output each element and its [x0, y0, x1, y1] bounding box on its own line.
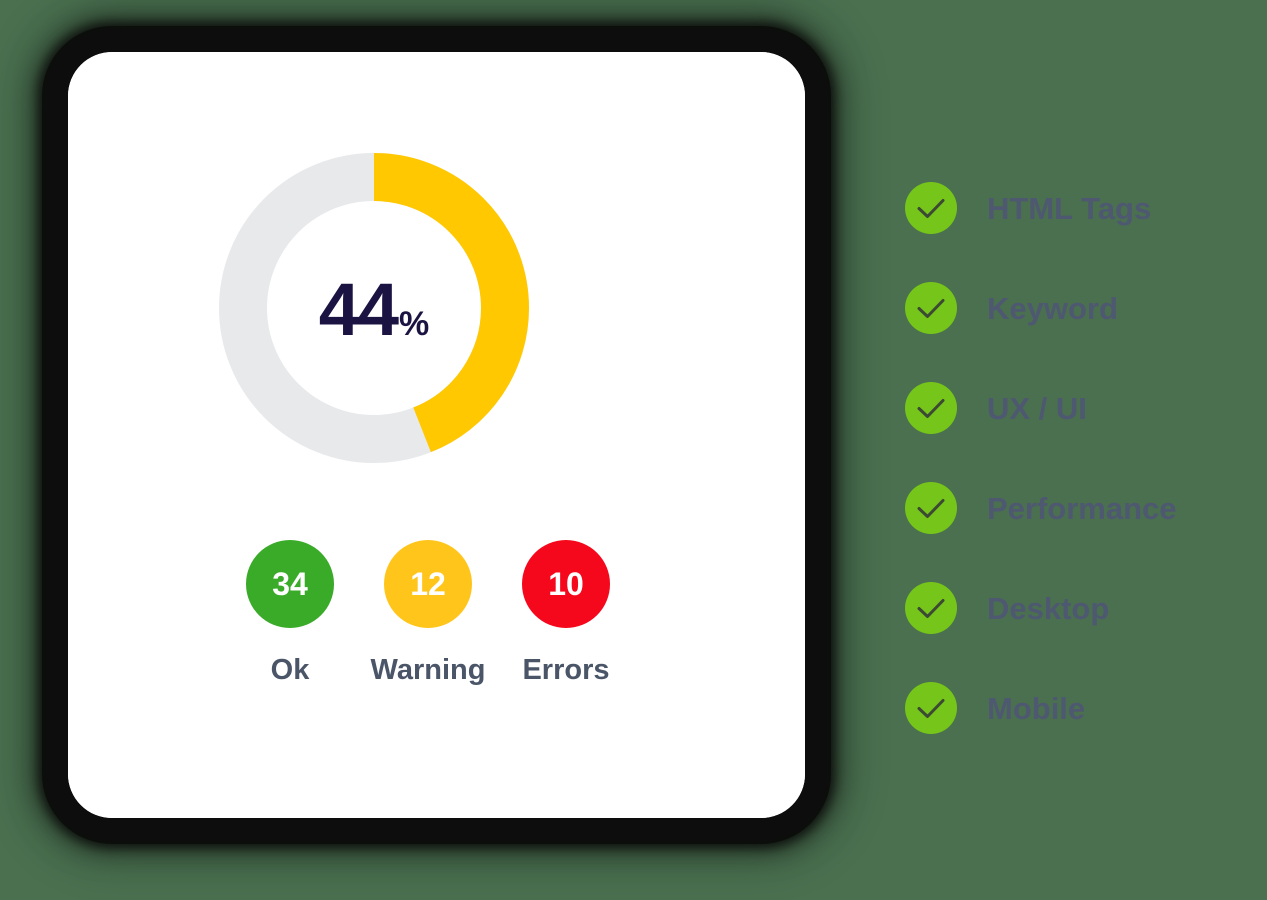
- stat-ok: 34 Ok: [228, 540, 352, 685]
- checklist-item-performance[interactable]: Performance: [905, 458, 1255, 558]
- stat-label-errors: Errors: [522, 656, 609, 685]
- check-circle-icon: [905, 482, 957, 534]
- stat-badge-ok: 34: [246, 540, 334, 628]
- score-card-content: 44 % 34 Ok 12 Warning: [68, 52, 805, 818]
- checklist-item-desktop[interactable]: Desktop: [905, 558, 1255, 658]
- stat-badge-errors: 10: [522, 540, 610, 628]
- stat-errors: 10 Errors: [504, 540, 628, 685]
- stat-warning: 12 Warning: [366, 540, 490, 685]
- checklist-item-ux-ui[interactable]: UX / UI: [905, 358, 1255, 458]
- check-circle-icon: [905, 282, 957, 334]
- stat-label-warning: Warning: [371, 656, 486, 685]
- stat-label-ok: Ok: [271, 656, 310, 685]
- audit-checklist: HTML Tags Keyword UX / UI: [905, 158, 1255, 758]
- checklist-item-label: UX / UI: [987, 393, 1087, 424]
- check-circle-icon: [905, 682, 957, 734]
- score-card: 44 % 34 Ok 12 Warning: [68, 52, 805, 818]
- stat-badge-warning: 12: [384, 540, 472, 628]
- check-circle-icon: [905, 382, 957, 434]
- checklist-item-label: Mobile: [987, 693, 1085, 724]
- stat-count-ok: 34: [272, 568, 308, 600]
- status-summary: 34 Ok 12 Warning 10 Errors: [228, 540, 658, 685]
- gauge-value-unit: %: [399, 307, 429, 341]
- gauge-value-group: 44 %: [319, 273, 430, 347]
- checklist-item-label: HTML Tags: [987, 193, 1151, 224]
- gauge-center-label: 44 %: [219, 153, 529, 463]
- stat-count-errors: 10: [548, 568, 584, 600]
- checklist-item-label: Keyword: [987, 293, 1118, 324]
- checklist-item-label: Performance: [987, 493, 1177, 524]
- score-gauge: 44 %: [219, 153, 529, 463]
- check-circle-icon: [905, 182, 957, 234]
- gauge-value-number: 44: [319, 273, 397, 347]
- stat-count-warning: 12: [410, 568, 446, 600]
- checklist-item-label: Desktop: [987, 593, 1109, 624]
- screenshot-stage: 44 % 34 Ok 12 Warning: [0, 0, 1267, 900]
- checklist-item-html-tags[interactable]: HTML Tags: [905, 158, 1255, 258]
- checklist-item-keyword[interactable]: Keyword: [905, 258, 1255, 358]
- check-circle-icon: [905, 582, 957, 634]
- checklist-item-mobile[interactable]: Mobile: [905, 658, 1255, 758]
